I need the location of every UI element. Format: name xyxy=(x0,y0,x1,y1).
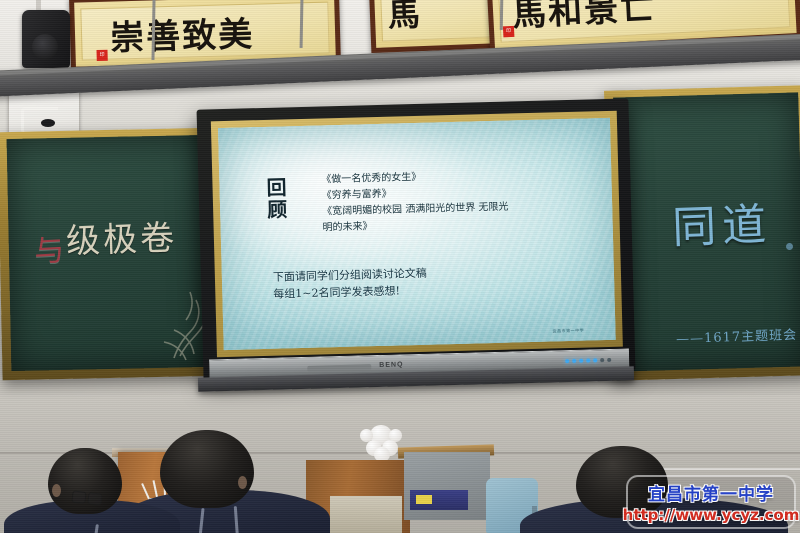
ceiling-speaker xyxy=(22,10,70,68)
status-led xyxy=(593,358,597,362)
status-led xyxy=(586,358,590,362)
watermark-url: http://www.ycyz.com xyxy=(623,506,800,524)
whiteboard-gold-frame: 回顾 《做一名优秀的女生》 《穷养与富养》 《宽阔明媚的校园 洒满阳光的世界 无… xyxy=(211,111,623,358)
status-led xyxy=(607,358,611,362)
whiteboard-screen[interactable]: 回顾 《做一名优秀的女生》 《穷养与富养》 《宽阔明媚的校园 洒满阳光的世界 无… xyxy=(218,118,616,350)
interactive-whiteboard[interactable]: 回顾 《做一名优秀的女生》 《穷养与富养》 《宽阔明媚的校园 洒满阳光的世界 无… xyxy=(197,98,636,381)
student-head xyxy=(48,448,122,514)
fixture-lens-icon xyxy=(41,119,55,127)
status-led xyxy=(579,359,583,363)
banner-right-seal: 印 xyxy=(503,26,515,38)
student-head xyxy=(160,430,254,508)
student-ear xyxy=(52,484,61,497)
status-led xyxy=(565,359,569,363)
status-led-group xyxy=(565,358,611,363)
hood-drawstring xyxy=(194,508,204,533)
blackboard-right-main-text: 同道 xyxy=(671,188,773,255)
chalk-mark-icon xyxy=(786,243,793,250)
status-led xyxy=(572,359,576,363)
status-led xyxy=(600,358,604,362)
site-watermark: 宜昌市第一中学 http://www.ycyz.com xyxy=(626,475,796,529)
screen-vignette xyxy=(218,118,616,350)
whiteboard-brand-logo: BENQ xyxy=(379,361,403,369)
cardboard-box xyxy=(330,496,402,533)
blue-box xyxy=(410,490,468,510)
watermark-school-name: 宜昌市第一中学 xyxy=(648,480,774,505)
blackboard-left-main-text: 级极卷 xyxy=(65,210,178,263)
banner-left-seal: 印 xyxy=(96,50,107,61)
student-front-left xyxy=(20,448,170,533)
control-bar-slot xyxy=(307,364,371,372)
student-ear xyxy=(238,476,247,489)
hood-drawstring xyxy=(234,506,241,533)
rail-hanger xyxy=(500,0,504,30)
classroom-photo: 崇善致美 印 馬 馬和景亡 印 与 级极卷 xyxy=(0,0,800,533)
speaker-cone-icon xyxy=(32,34,58,60)
blackboard-left-accent-text: 与 xyxy=(33,225,65,271)
banner-middle-text: 馬 xyxy=(387,0,423,36)
box-label xyxy=(416,495,432,504)
white-teddy-bear xyxy=(358,425,404,463)
hood-drawstring xyxy=(88,524,99,533)
banner-left-text: 崇善致美 xyxy=(109,7,254,60)
eyeglasses-icon xyxy=(72,490,103,504)
